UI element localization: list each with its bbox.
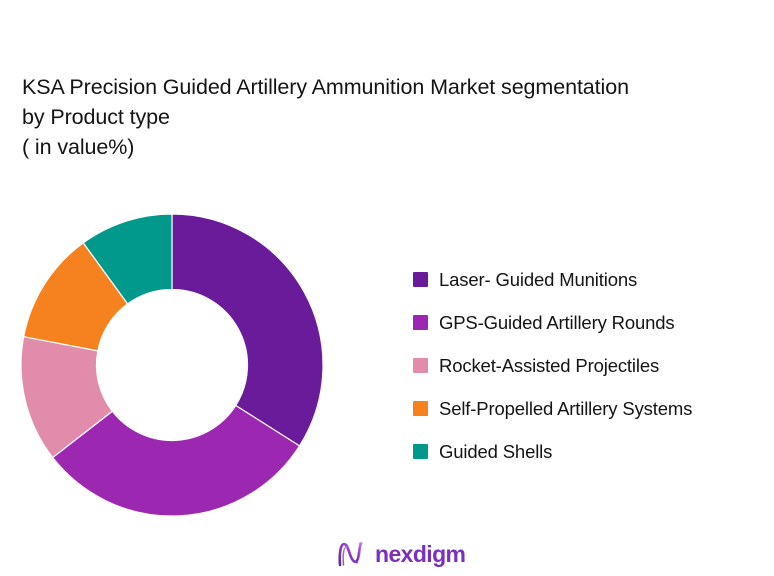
page-title: KSA Precision Guided Artillery Ammunitio… [22,72,642,162]
legend-item-label: Laser- Guided Munitions [439,269,637,291]
legend-swatch-icon [413,272,428,287]
legend-item-self-propelled-artillery-systems[interactable]: Self-Propelled Artillery Systems [413,387,774,430]
legend-swatch-icon [413,444,428,459]
legend-item-gps-guided-artillery-rounds[interactable]: GPS-Guided Artillery Rounds [413,301,774,344]
brand-logo: nexdigm [336,538,465,570]
donut-slice[interactable] [172,214,323,446]
legend-swatch-icon [413,401,428,416]
legend-swatch-icon [413,315,428,330]
legend-item-label: Rocket-Assisted Projectiles [439,355,659,377]
donut-slice-group [21,214,323,516]
donut-chart [21,214,323,516]
chart-legend: Laser- Guided Munitions GPS-Guided Artil… [413,258,774,473]
legend-swatch-icon [413,358,428,373]
legend-item-guided-shells[interactable]: Guided Shells [413,430,774,473]
legend-item-rocket-assisted-projectiles[interactable]: Rocket-Assisted Projectiles [413,344,774,387]
brand-wordmark: nexdigm [375,540,465,568]
legend-item-label: Self-Propelled Artillery Systems [439,398,692,420]
legend-item-laser-guided-munitions[interactable]: Laser- Guided Munitions [413,258,774,301]
donut-chart-svg [21,214,323,516]
legend-item-label: GPS-Guided Artillery Rounds [439,312,675,334]
nexdigm-n-icon [336,540,366,568]
legend-item-label: Guided Shells [439,441,552,463]
